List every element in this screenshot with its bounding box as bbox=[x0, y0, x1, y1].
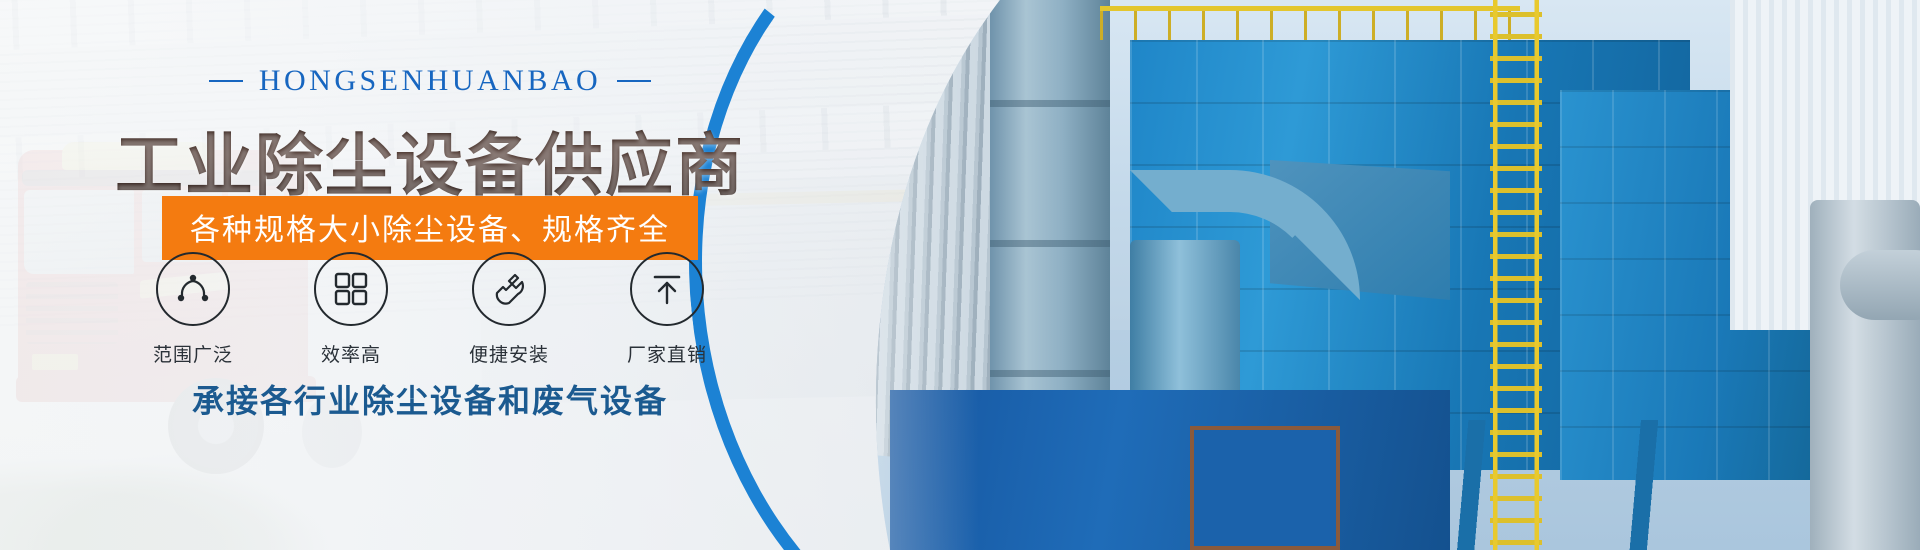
feature-item-easy-install[interactable]: 便捷安装 bbox=[454, 252, 564, 367]
wrench-icon bbox=[489, 269, 529, 309]
feature-icon-circle bbox=[630, 252, 704, 326]
feature-item-high-efficiency[interactable]: 效率高 bbox=[296, 252, 406, 367]
feature-label: 效率高 bbox=[296, 340, 406, 367]
feature-label: 便捷安装 bbox=[454, 340, 564, 367]
page-title: 工业除尘设备供应商 bbox=[0, 110, 860, 209]
feature-item-wide-range[interactable]: 范围广泛 bbox=[138, 252, 248, 367]
feature-icon-circle bbox=[314, 252, 388, 326]
arrow-up-to-line-icon bbox=[648, 270, 686, 308]
right-industrial-photo bbox=[800, 0, 1920, 550]
eyebrow-text: HONGSENHUANBAO bbox=[259, 64, 601, 98]
feature-icon-circle bbox=[156, 252, 230, 326]
eyebrow-line: HONGSENHUANBAO bbox=[0, 62, 860, 98]
feature-list: 范围广泛 效率高 bbox=[0, 252, 860, 367]
feature-label: 范围广泛 bbox=[138, 340, 248, 367]
subbar-container: 各种规格大小除尘设备、规格齐全 bbox=[0, 196, 860, 260]
tagline: 承接各行业除尘设备和废气设备 bbox=[0, 376, 860, 422]
grid-squares-icon bbox=[332, 270, 370, 308]
feature-label: 厂家直销 bbox=[612, 340, 722, 367]
photo-edge-fade bbox=[800, 0, 1920, 550]
dash-left-icon bbox=[209, 80, 243, 82]
banner-content: HONGSENHUANBAO 工业除尘设备供应商 各种规格大小除尘设备、规格齐全… bbox=[0, 0, 860, 550]
orange-subtitle-bar: 各种规格大小除尘设备、规格齐全 bbox=[162, 196, 698, 260]
dash-right-icon bbox=[617, 80, 651, 82]
feature-item-factory-direct[interactable]: 厂家直销 bbox=[612, 252, 722, 367]
network-nodes-icon bbox=[173, 269, 213, 309]
feature-icon-circle bbox=[472, 252, 546, 326]
hero-banner: HONGSENHUANBAO 工业除尘设备供应商 各种规格大小除尘设备、规格齐全… bbox=[0, 0, 1920, 550]
